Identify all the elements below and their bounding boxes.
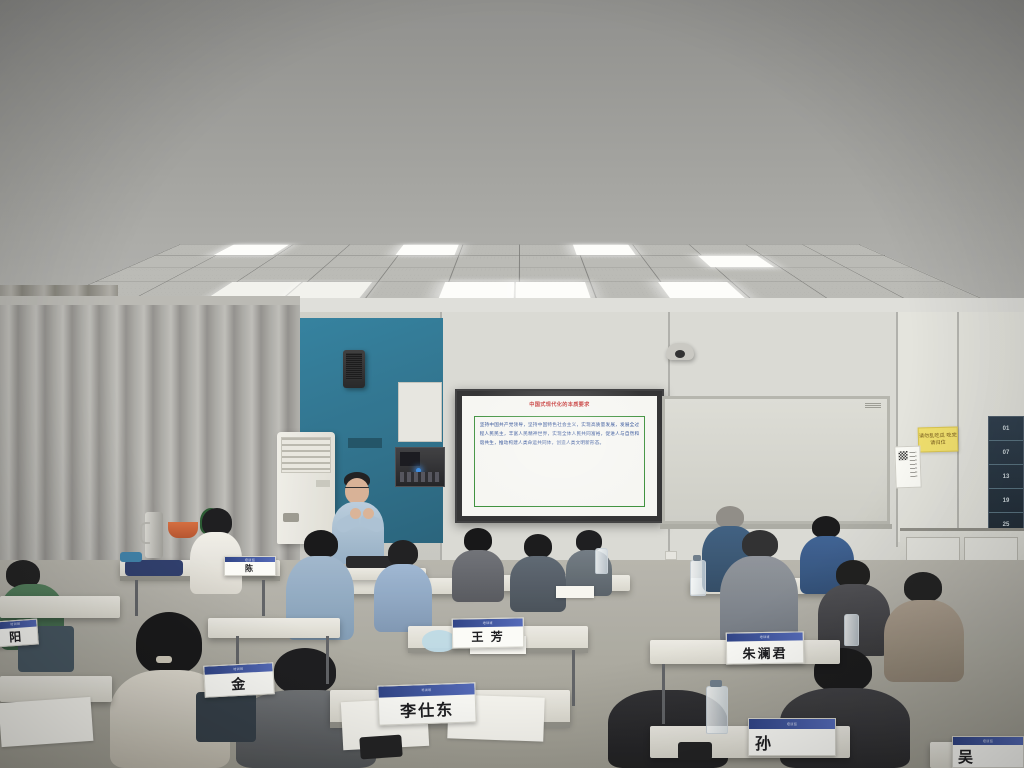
wall-socket	[665, 551, 677, 560]
ceiling-light-panel	[573, 245, 636, 255]
desk	[208, 618, 340, 638]
attendee-hair	[716, 506, 744, 528]
name-placard: 培训班 吴	[952, 736, 1024, 768]
smartphone[interactable]	[678, 742, 712, 760]
water-bottle	[706, 686, 728, 734]
notice-text-lines	[909, 452, 917, 478]
presenter-hand	[350, 508, 361, 519]
attendee-hair	[136, 612, 202, 674]
placard-name: 朱澜君	[727, 641, 803, 664]
placard-header: 培训班	[953, 737, 1023, 745]
attendee-torso	[510, 556, 566, 612]
attendee-hair	[388, 540, 418, 566]
attendee-hair	[464, 528, 492, 552]
ceiling-light-panel	[396, 245, 459, 255]
number-board-row: 01	[989, 417, 1023, 441]
number-board-row: 19	[989, 489, 1023, 513]
placard-name: 陈	[225, 562, 275, 575]
projection-screen[interactable]: 中国式现代化的本质要求 坚持中国共产党领导，坚持中国特色社会主义，实现高质量发展…	[455, 389, 664, 523]
name-placard: 培训班 朱澜君	[726, 631, 805, 664]
slide-title: 中国式现代化的本质要求	[478, 402, 642, 409]
attendee-hair	[904, 572, 942, 602]
placard-name: 王 芳	[453, 626, 523, 647]
water-bottle	[690, 560, 706, 596]
water-bottle	[595, 548, 608, 574]
wall-notice-text: 请勿乱吃瓜 吃完请归位	[919, 432, 957, 446]
placard-name: 金	[205, 672, 274, 697]
blue-bag	[125, 560, 183, 576]
desk-leg	[135, 580, 138, 616]
wall-number-board: 01 07 13 19 25	[988, 416, 1024, 538]
whiteboard[interactable]	[662, 396, 890, 524]
air-conditioner-badge	[283, 513, 299, 522]
bottle-cap	[710, 680, 722, 687]
av-control-panel[interactable]	[395, 447, 445, 487]
thermos-handle	[140, 522, 150, 544]
name-placard: 培训班 李仕东	[377, 682, 476, 725]
handout	[556, 586, 594, 598]
attendee-hair	[524, 534, 552, 558]
classroom-photo: 中国式现代化的本质要求 坚持中国共产党领导，坚持中国特色社会主义，实现高质量发展…	[0, 0, 1024, 768]
ceiling	[0, 0, 1024, 330]
wall-notice-sign: 请勿乱吃瓜 吃完请归位	[918, 426, 959, 452]
chair	[196, 692, 256, 742]
control-panel-display	[400, 452, 420, 466]
control-panel-buttons[interactable]	[400, 472, 440, 482]
wall-speaker-icon	[343, 350, 365, 388]
placard-org: 培训班	[760, 635, 770, 639]
attendee	[720, 530, 798, 648]
attendee-torso	[452, 550, 504, 602]
presenter-hand	[363, 508, 374, 519]
name-placard: 培训班 阳	[0, 618, 39, 647]
placard-org: 培训班	[983, 739, 993, 743]
name-placard: 培训班 金	[203, 662, 275, 698]
placard-org: 培训班	[787, 722, 797, 726]
wall-access-panel	[398, 382, 442, 442]
placard-name: 孙	[749, 729, 835, 755]
speaker-mesh	[346, 353, 362, 380]
desk-leg	[262, 580, 265, 616]
camera-lens-icon	[675, 350, 685, 358]
name-placard: 培训班 陈	[224, 556, 276, 576]
number-board-row: 13	[989, 465, 1023, 489]
slide-content-box: 坚持中国共产党领导，坚持中国特色社会主义，实现高质量发展，发展全过程人民民主，丰…	[474, 416, 646, 507]
desk	[0, 596, 120, 618]
handout	[0, 697, 93, 747]
slide-surface: 中国式现代化的本质要求 坚持中国共产党领导，坚持中国特色社会主义，实现高质量发展…	[462, 396, 657, 516]
blue-tray	[120, 552, 142, 562]
placard-header: 培训班	[749, 719, 835, 729]
attendee-hair	[742, 530, 778, 558]
curtain-rail	[0, 296, 300, 305]
wall-seam	[896, 312, 898, 547]
attendee	[372, 540, 434, 632]
name-placard: 培训班 孙	[748, 718, 836, 756]
ceiling-camera-icon	[666, 343, 694, 360]
placard-name: 吴	[953, 745, 1023, 767]
hair-clip-icon	[156, 656, 172, 663]
bottle-cap	[693, 555, 701, 561]
ceiling-light-panel	[516, 282, 591, 298]
desk-leg	[662, 664, 665, 724]
water-bottle	[844, 614, 859, 646]
presenter-glasses-icon	[345, 487, 369, 492]
attendee	[186, 508, 244, 594]
wall-seam	[957, 312, 959, 534]
placard-org: 培训班	[483, 621, 493, 625]
placard-org: 培训班	[233, 667, 243, 672]
ceiling-light-panel	[439, 282, 514, 298]
placard-org: 培训班	[10, 622, 20, 627]
attendee	[452, 528, 504, 602]
wall-notice-paper	[894, 446, 921, 489]
placard-name: 阳	[0, 626, 38, 646]
whiteboard-clip	[865, 403, 881, 408]
placard-org: 培训班	[421, 688, 431, 692]
accent-wall-vent	[348, 438, 382, 448]
number-board-row: 07	[989, 441, 1023, 465]
whiteboard-tray	[660, 524, 892, 529]
desk-leg	[326, 636, 329, 684]
qr-code-icon	[898, 451, 907, 460]
face-mask	[422, 630, 456, 652]
desk-leg	[572, 650, 575, 706]
smartphone[interactable]	[359, 735, 402, 760]
attendee-hair	[304, 530, 338, 558]
placard-name: 李仕东	[379, 694, 476, 725]
attendee	[510, 534, 566, 612]
attendee-torso	[374, 564, 432, 632]
slide-body-text: 坚持中国共产党领导，坚持中国特色社会主义，实现高质量发展，发展全过程人民民主，丰…	[480, 421, 640, 448]
placard-org: 培训班	[245, 558, 255, 562]
air-conditioner-grill	[281, 437, 331, 473]
attendee-hair	[812, 516, 840, 538]
desk	[0, 676, 112, 702]
name-placard: 培训班 王 芳	[452, 617, 525, 648]
